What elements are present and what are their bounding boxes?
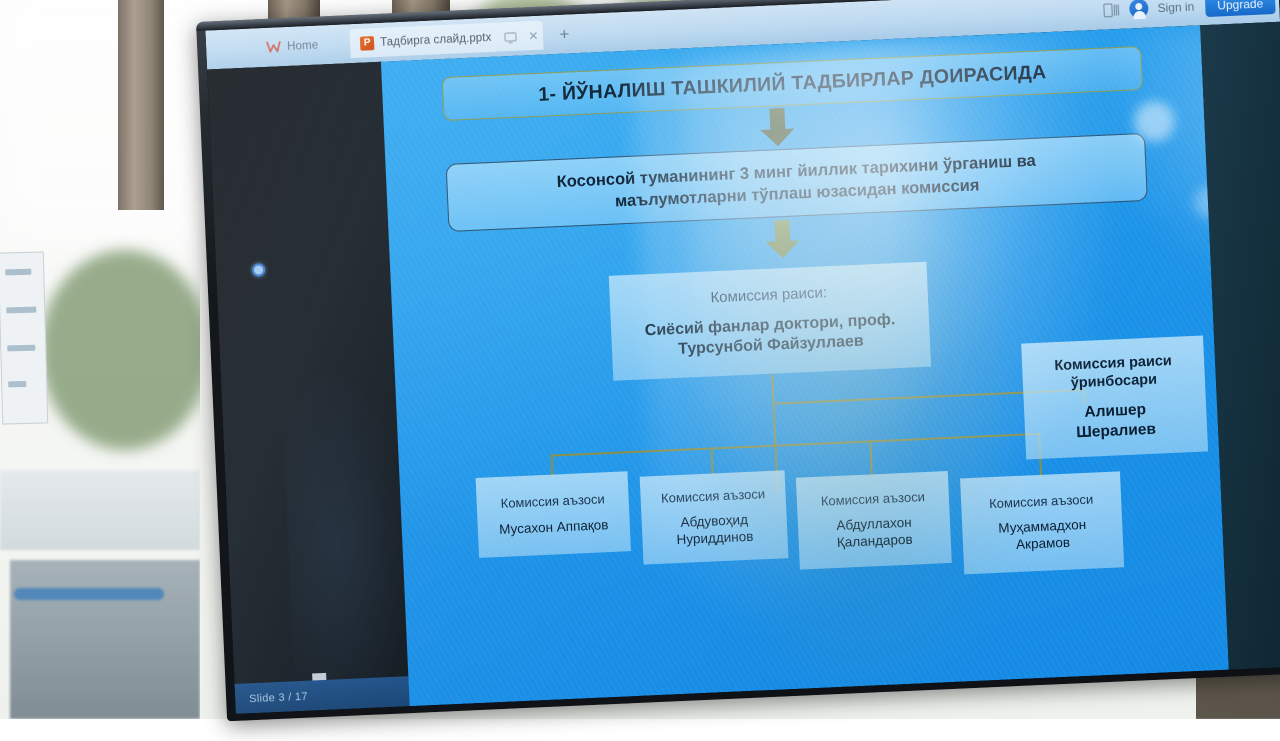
- deputy-role-line-2: ўринбосари: [1055, 370, 1173, 393]
- user-avatar-icon[interactable]: [1129, 0, 1149, 18]
- home-tab[interactable]: Home: [256, 31, 329, 62]
- member-name-line-1: Мусахон Аппақов: [499, 516, 609, 538]
- slide-canvas[interactable]: 1- ЙЎНАЛИШ ТАШКИЛИЙ ТАДБИРЛАР ДОИРАСИДА …: [381, 25, 1229, 706]
- deputy-name-line-2: Шералиев: [1076, 419, 1157, 442]
- monitor-screen: Home P Тадбирга слайд.pptx ✕ +: [205, 0, 1280, 714]
- member-name-line-2: Акрамов: [999, 533, 1088, 554]
- connector-member-2-drop: [710, 447, 713, 475]
- member-name: Муҳаммадхон Акрамов: [998, 516, 1087, 554]
- deputy-role-label: Комиссия раиси ўринбосари: [1054, 352, 1173, 393]
- sign-text-line: [8, 381, 26, 387]
- slide-subtitle-box: Косонсой туманининг 3 минг йиллик тарихи…: [446, 133, 1148, 232]
- ground-lower: [10, 560, 200, 719]
- powerpoint-file-icon: P: [360, 36, 375, 51]
- status-bar: Slide 3 / 17: [234, 676, 409, 714]
- member-name: Абдуллахон Қаландаров: [836, 514, 913, 551]
- arrow-head: [760, 128, 795, 146]
- deputy-chairman-box: Комиссия раиси ўринбосари Алишер Шералие…: [1021, 336, 1208, 460]
- close-icon[interactable]: ✕: [528, 28, 539, 42]
- bush-left: [40, 250, 200, 450]
- arrow-shaft: [769, 108, 785, 130]
- slide-counter-label: Slide 3 / 17: [249, 691, 308, 706]
- chairman-name: Сиёсий фанлар доктори, проф. Турсунбой Ф…: [644, 310, 896, 361]
- member-role-label: Комиссия аъзоси: [661, 486, 766, 506]
- member-box: Комиссия аъзоси Мусахон Аппақов: [476, 471, 631, 558]
- pane-reflection: [280, 361, 415, 696]
- chairman-box: Комиссия раиси: Сиёсий фанлар доктори, п…: [609, 262, 931, 381]
- present-monitor-icon[interactable]: [504, 30, 518, 43]
- sign-text-line: [7, 345, 35, 352]
- upgrade-button[interactable]: Upgrade: [1205, 0, 1276, 17]
- member-name-line-2: Нуриддинов: [676, 528, 754, 548]
- workspace: Slide 3 / 17 1- ЙЎНАЛИШ ТА: [207, 22, 1280, 714]
- member-role-label: Комиссия аъзоси: [500, 492, 605, 512]
- connector-horizontal-members: [551, 433, 1041, 456]
- record-dot-icon[interactable]: [252, 263, 266, 277]
- member-name-line-2: Қаландаров: [837, 531, 913, 551]
- chairman-role-label: Комиссия раиси:: [710, 284, 827, 306]
- sign-text-line: [5, 269, 31, 276]
- member-name: Абдувоҳид Нуриддинов: [675, 511, 753, 548]
- sign-in-button[interactable]: Sign in: [1157, 0, 1194, 15]
- member-role-label: Комиссия аъзоси: [989, 491, 1094, 511]
- connector-member-1-drop: [551, 455, 554, 477]
- member-box: Комиссия аъзоси Абдувоҳид Нуриддинов: [640, 470, 789, 564]
- ground-surface: [0, 470, 200, 550]
- file-tab-label: Тадбирга слайд.pptx: [380, 31, 492, 48]
- side-panel-icon[interactable]: [1103, 2, 1121, 17]
- blue-railing: [14, 588, 164, 600]
- wps-logo-icon: [266, 40, 282, 54]
- home-tab-label: Home: [287, 39, 319, 52]
- member-name: Мусахон Аппақов: [499, 516, 609, 538]
- slide-thumbnail-pane[interactable]: Slide 3 / 17: [207, 62, 410, 714]
- tree-trunk-far-left: [118, 0, 164, 210]
- monitor: Home P Тадбирга слайд.pptx ✕ +: [196, 0, 1280, 741]
- file-tab-pptx[interactable]: P Тадбирга слайд.pptx ✕: [350, 21, 544, 59]
- deputy-name: Алишер Шералиев: [1075, 400, 1156, 442]
- arrow-shaft: [774, 220, 790, 242]
- sign-text-line: [6, 307, 36, 314]
- member-box: Комиссия аъзоси Муҳаммадхон Акрамов: [960, 471, 1124, 574]
- down-arrow-icon: [759, 108, 795, 147]
- down-arrow-icon: [764, 219, 800, 258]
- info-sign-left: [0, 251, 48, 424]
- arrow-head: [765, 240, 800, 258]
- connector-member-3-drop: [869, 440, 872, 476]
- member-role-label: Комиссия аъзоси: [821, 489, 926, 509]
- member-box: Комиссия аъзоси Абдуллахон Қаландаров: [796, 471, 952, 570]
- left-background-scene: [0, 0, 200, 719]
- monitor-bezel: Home P Тадбирга слайд.pptx ✕ +: [196, 0, 1280, 721]
- new-tab-plus-icon[interactable]: +: [559, 24, 570, 44]
- page-title: 1- ЙЎНАЛИШ ТАШКИЛИЙ ТАДБИРЛАР ДОИРАСИДА: [538, 61, 1047, 107]
